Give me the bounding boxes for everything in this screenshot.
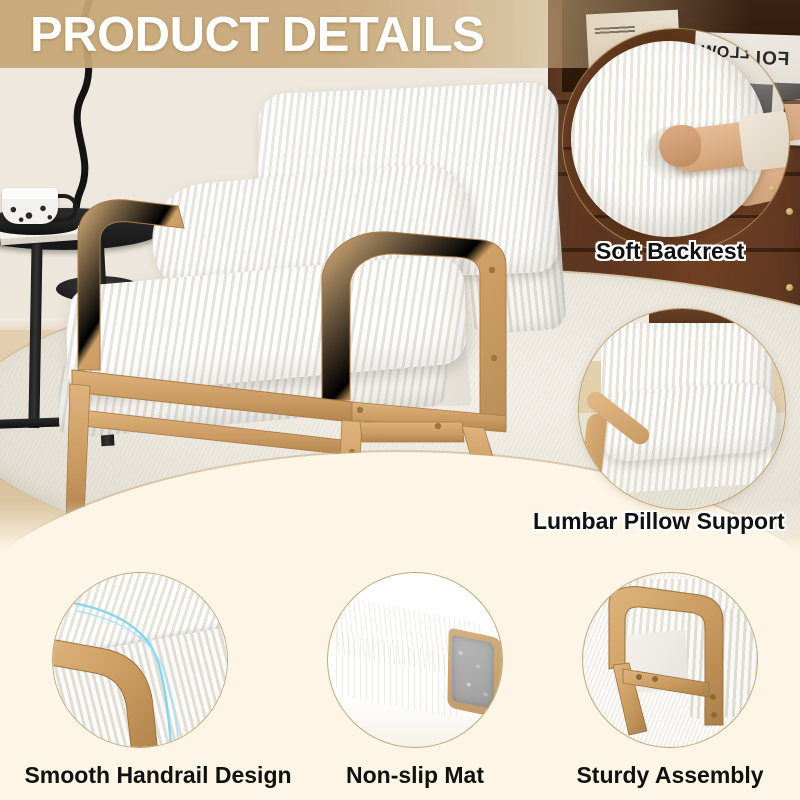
feature-image <box>52 572 228 748</box>
page-title: PRODUCT DETAILS <box>30 6 484 64</box>
callout-label-soft-backrest: Soft Backrest <box>596 238 744 265</box>
drawer-knob <box>786 284 793 291</box>
feature-caption-smooth-handrail-design: Smooth Handrail Design <box>8 762 308 789</box>
sleeve <box>738 110 790 172</box>
felt-non-slip-pad <box>452 635 494 709</box>
drawer-knob <box>769 235 776 242</box>
feature-sturdy-assembly <box>582 572 758 748</box>
feature-image <box>327 572 503 748</box>
feature-caption-sturdy-assembly: Sturdy Assembly <box>520 762 800 789</box>
callout-lumbar-pillow-support <box>578 308 786 510</box>
feature-smooth-handrail-design <box>52 572 228 748</box>
callout-label-lumbar-pillow-support: Lumbar Pillow Support <box>533 508 785 535</box>
wood-frame-joinery <box>583 573 758 748</box>
feature-image <box>582 572 758 748</box>
handrail-highlight-line <box>53 573 228 748</box>
drawer-knob <box>769 185 776 192</box>
patterned-coffee-mug <box>2 188 58 224</box>
callout-soft-backrest: FOLLOW <box>562 28 790 252</box>
feature-non-slip-mat <box>327 572 503 748</box>
product-details-page: FOLLOW <box>0 0 800 800</box>
pressing-fist <box>659 125 701 167</box>
